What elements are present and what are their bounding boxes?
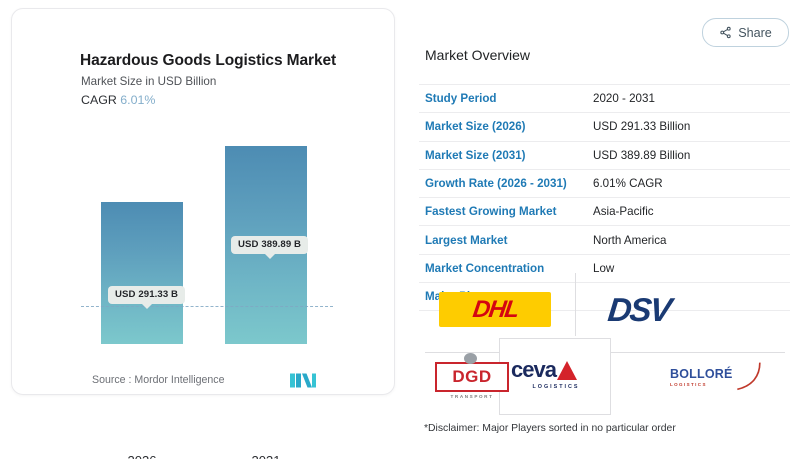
chart-cagr: CAGR 6.01% [81,93,155,107]
cagr-value: 6.01% [120,93,155,107]
dgd-logo-subtext: TRANSPORT [435,394,509,399]
ceva-logo-text-wrap: ceva [511,357,601,383]
share-network-icon [719,26,732,39]
dhl-logo[interactable]: DHL [439,292,551,327]
row-value-market-size-2031: USD 389.89 Billion [593,149,690,162]
cagr-label: CAGR [81,93,117,107]
major-players-logo-grid: DHL DSV ceva LOGISTICS DGD TRANSPORT BOL… [425,285,785,410]
dhl-logo-text: DHL [471,296,520,324]
row-label-market-concentration: Market Concentration [419,262,593,275]
dgd-logo-text: DGD [435,362,509,392]
row-label-growth-rate: Growth Rate (2026 - 2031) [419,177,593,190]
table-row: Study Period 2020 - 2031 [419,84,790,113]
share-button[interactable]: Share [702,18,789,47]
market-overview-table: Study Period 2020 - 2031 Market Size (20… [419,84,790,311]
dsv-logo[interactable]: DSV [608,291,743,329]
bollore-swoosh-icon [732,361,766,391]
row-value-largest-market: North America [593,234,666,247]
row-value-market-concentration: Low [593,262,614,275]
row-value-study-period: 2020 - 2031 [593,92,655,105]
bar-2026[interactable] [101,202,183,344]
bollore-logo[interactable]: BOLLORÉ LOGISTICS [670,367,770,401]
ceva-triangle-icon [557,361,577,380]
dsv-logo-text: DSV [606,291,672,329]
x-axis-label-2026: 2026 [101,453,183,459]
row-label-fastest-growing-market: Fastest Growing Market [419,205,593,218]
market-snapshot-page: Share Hazardous Goods Logistics Market M… [0,0,800,459]
bar-chart-plot: USD 291.33 B USD 389.89 B 2026 2031 [12,114,394,344]
x-axis-label-2031: 2031 [225,453,307,459]
bar-value-badge-2026: USD 291.33 B [108,286,185,304]
row-label-largest-market: Largest Market [419,234,593,247]
table-row: Fastest Growing Market Asia-Pacific [419,198,790,226]
table-row: Largest Market North America [419,226,790,254]
row-value-fastest-growing-market: Asia-Pacific [593,205,654,218]
table-row: Market Concentration Low [419,255,790,283]
share-button-label: Share [738,26,772,40]
bar-value-badge-2031: USD 389.89 B [231,236,308,254]
ceva-logo-subtext: LOGISTICS [511,384,601,390]
grid-divider-vertical-top [575,273,576,336]
dgd-logo[interactable]: DGD TRANSPORT [435,362,509,406]
reference-dashed-line [81,306,333,307]
chart-card: Hazardous Goods Logistics Market Market … [11,8,395,395]
mordor-intelligence-logo [290,372,316,388]
row-label-market-size-2031: Market Size (2031) [419,149,593,162]
market-overview-title: Market Overview [425,47,530,63]
table-row: Market Size (2026) USD 291.33 Billion [419,113,790,141]
row-value-market-size-2026: USD 291.33 Billion [593,120,690,133]
chart-source: Source : Mordor Intelligence [92,374,225,386]
ceva-logo-text: ceva [511,357,556,383]
dgd-emblem-icon [464,353,477,364]
row-label-study-period: Study Period [419,92,593,105]
row-value-growth-rate: 6.01% CAGR [593,177,663,190]
ceva-logo[interactable]: ceva LOGISTICS [511,357,601,393]
chart-subtitle: Market Size in USD Billion [81,75,216,88]
players-disclaimer: *Disclaimer: Major Players sorted in no … [424,423,676,434]
table-row: Market Size (2031) USD 389.89 Billion [419,142,790,170]
table-row: Growth Rate (2026 - 2031) 6.01% CAGR [419,170,790,198]
row-label-market-size-2026: Market Size (2026) [419,120,593,133]
chart-title: Hazardous Goods Logistics Market [80,52,336,70]
